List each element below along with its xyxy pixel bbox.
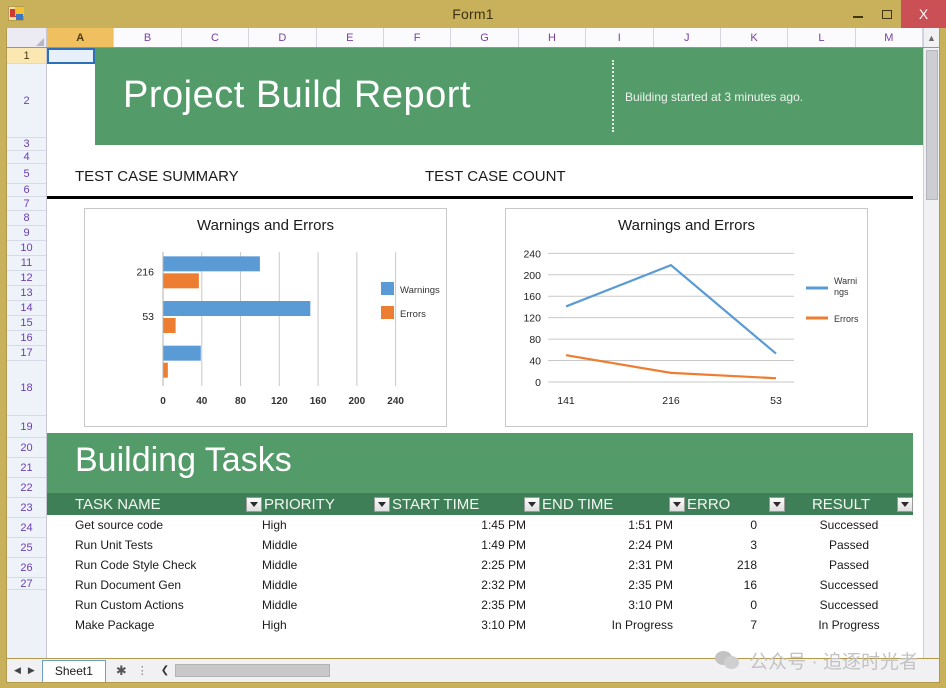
svg-text:120: 120: [523, 313, 541, 325]
row-header-20[interactable]: 20: [7, 438, 46, 458]
svg-text:Warnings: Warnings: [400, 285, 440, 296]
cell-task: Run Code Style Check: [47, 558, 262, 572]
active-cell-cursor[interactable]: [47, 48, 95, 64]
svg-text:Errors: Errors: [400, 309, 426, 320]
asterisk-icon[interactable]: ✱: [106, 663, 137, 679]
cell-errors: 0: [685, 518, 785, 532]
row-header-24[interactable]: 24: [7, 518, 46, 538]
table-header-label: PRIORITY: [262, 496, 335, 513]
chart1-title: Warnings and Errors: [85, 209, 446, 234]
report-header-banner: Project Build Report Building started at…: [95, 48, 923, 145]
column-header-j[interactable]: J: [654, 28, 721, 47]
cell-task: Run Document Gen: [47, 578, 262, 592]
cell-result: In Progress: [785, 618, 913, 632]
svg-text:120: 120: [271, 396, 288, 407]
table-header-erro[interactable]: ERRO: [685, 493, 785, 515]
application-window: Form1 X ABCDEFGHIJKLM ▲ 1234567891011121…: [0, 0, 946, 688]
cell-priority: Middle: [262, 558, 390, 572]
cell-priority: High: [262, 618, 390, 632]
row-header-7[interactable]: 7: [7, 197, 46, 211]
header-divider: [612, 60, 614, 132]
chevron-left-icon[interactable]: ❮: [155, 665, 175, 676]
svg-text:Errors: Errors: [834, 314, 859, 324]
cell-end: In Progress: [540, 618, 685, 632]
cell-task: Get source code: [47, 518, 262, 532]
vscroll-up-arrow[interactable]: ▲: [923, 28, 939, 47]
triangle-left-icon[interactable]: ◀: [14, 665, 21, 676]
cell-priority: High: [262, 518, 390, 532]
column-header-h[interactable]: H: [519, 28, 586, 47]
table-header-task-name[interactable]: TASK NAME: [47, 493, 262, 515]
cell-priority: Middle: [262, 578, 390, 592]
table-header-start-time[interactable]: START TIME: [390, 493, 540, 515]
vscroll-thumb[interactable]: [926, 50, 938, 200]
svg-text:240: 240: [387, 396, 404, 407]
title-bar: Form1 X: [0, 0, 946, 28]
row-header-10[interactable]: 10: [7, 241, 46, 256]
table-row[interactable]: Make PackageHigh3:10 PMIn Progress7In Pr…: [47, 615, 913, 635]
row-header-6[interactable]: 6: [7, 184, 46, 197]
svg-text:0: 0: [535, 377, 541, 389]
chart2-title: Warnings and Errors: [506, 209, 867, 234]
cell-task: Run Unit Tests: [47, 538, 262, 552]
chart-warnings-errors-line[interactable]: Warnings and Errors 04080120160200240141…: [505, 208, 868, 427]
column-header-k[interactable]: K: [721, 28, 788, 47]
cell-start: 1:45 PM: [390, 518, 540, 532]
table-header-result[interactable]: RESULT: [785, 493, 913, 515]
row-header-13[interactable]: 13: [7, 286, 46, 301]
cell-end: 2:31 PM: [540, 558, 685, 572]
select-all-corner[interactable]: [7, 28, 47, 47]
cell-task: Make Package: [47, 618, 262, 632]
svg-text:240: 240: [523, 248, 541, 260]
vertical-scrollbar[interactable]: [923, 48, 939, 658]
filter-dropdown-icon[interactable]: [374, 497, 390, 512]
sheet-tab-sheet1[interactable]: Sheet1: [42, 660, 106, 682]
svg-text:40: 40: [196, 396, 208, 407]
cell-priority: Middle: [262, 538, 390, 552]
cell-result: Successed: [785, 518, 913, 532]
section-underline: [47, 196, 913, 199]
row-header-27[interactable]: 27: [7, 578, 46, 590]
row-header-4[interactable]: 4: [7, 151, 46, 164]
cell-errors: 7: [685, 618, 785, 632]
cell-result: Passed: [785, 558, 913, 572]
cell-end: 1:51 PM: [540, 518, 685, 532]
cell-priority: Middle: [262, 598, 390, 612]
cell-end: 2:35 PM: [540, 578, 685, 592]
row-header-gutter: 1234567891011121314151617181920212223242…: [7, 48, 47, 658]
filter-dropdown-icon[interactable]: [246, 497, 262, 512]
more-options-icon[interactable]: ⋮: [137, 664, 155, 677]
row-header-23[interactable]: 23: [7, 498, 46, 518]
table-header-end-time[interactable]: END TIME: [540, 493, 685, 515]
cell-errors: 218: [685, 558, 785, 572]
spreadsheet-area: ABCDEFGHIJKLM ▲ 123456789101112131415161…: [6, 28, 940, 659]
filter-dropdown-icon[interactable]: [669, 497, 685, 512]
column-header-i[interactable]: I: [586, 28, 653, 47]
row-header-16[interactable]: 16: [7, 331, 46, 346]
sheet-nav-arrows[interactable]: ◀ ▶: [7, 665, 42, 676]
row-header-11[interactable]: 11: [7, 256, 46, 271]
cell-end: 2:24 PM: [540, 538, 685, 552]
table-body: Get source codeHigh1:45 PM1:51 PM0Succes…: [47, 515, 913, 635]
row-header-22[interactable]: 22: [7, 478, 46, 498]
sheet-canvas[interactable]: Project Build Report Building started at…: [47, 48, 923, 658]
window-title: Form1: [0, 6, 946, 22]
svg-text:Warni: Warni: [834, 276, 857, 286]
filter-dropdown-icon[interactable]: [897, 497, 913, 512]
section-label-test-case-summary: TEST CASE SUMMARY: [75, 168, 239, 185]
cell-start: 2:25 PM: [390, 558, 540, 572]
row-header-8[interactable]: 8: [7, 211, 46, 226]
column-header-l[interactable]: L: [788, 28, 855, 47]
cell-start: 2:35 PM: [390, 598, 540, 612]
column-header-c[interactable]: C: [182, 28, 249, 47]
svg-text:200: 200: [523, 270, 541, 282]
row-header-19[interactable]: 19: [7, 416, 46, 438]
cell-start: 2:32 PM: [390, 578, 540, 592]
column-header-e[interactable]: E: [317, 28, 384, 47]
column-header-d[interactable]: D: [249, 28, 316, 47]
svg-text:53: 53: [142, 311, 154, 323]
svg-text:53: 53: [770, 395, 782, 407]
row-header-18[interactable]: 18: [7, 361, 46, 416]
row-header-3[interactable]: 3: [7, 138, 46, 151]
table-row[interactable]: Run Custom ActionsMiddle2:35 PM3:10 PM0S…: [47, 595, 913, 615]
table-header-priority[interactable]: PRIORITY: [262, 493, 390, 515]
column-header-a[interactable]: A: [47, 28, 114, 47]
cell-end: 3:10 PM: [540, 598, 685, 612]
cell-errors: 3: [685, 538, 785, 552]
svg-text:80: 80: [235, 396, 247, 407]
column-header-g[interactable]: G: [451, 28, 518, 47]
row-header-2[interactable]: 2: [7, 64, 46, 138]
column-header-b[interactable]: B: [114, 28, 181, 47]
row-header-26[interactable]: 26: [7, 558, 46, 578]
table-row[interactable]: Run Code Style CheckMiddle2:25 PM2:31 PM…: [47, 555, 913, 575]
page-title: Project Build Report: [123, 74, 471, 117]
svg-text:160: 160: [523, 291, 541, 303]
filter-dropdown-icon[interactable]: [769, 497, 785, 512]
table-row[interactable]: Run Document GenMiddle2:32 PM2:35 PM16Su…: [47, 575, 913, 595]
tasks-title: Building Tasks: [75, 441, 292, 480]
table-row[interactable]: Run Unit TestsMiddle1:49 PM2:24 PM3Passe…: [47, 535, 913, 555]
row-header-25[interactable]: 25: [7, 538, 46, 558]
build-status-note: Building started at 3 minutes ago.: [625, 90, 803, 104]
section-label-test-case-count: TEST CASE COUNT: [425, 168, 566, 185]
svg-text:216: 216: [136, 266, 154, 278]
cell-result: Successed: [785, 578, 913, 592]
svg-text:141: 141: [557, 395, 575, 407]
triangle-right-icon[interactable]: ▶: [28, 665, 35, 676]
table-header-label: TASK NAME: [47, 496, 161, 513]
sheet-tab-bar: ◀ ▶ Sheet1 ✱ ⋮ ❮: [6, 659, 940, 683]
chart-warnings-errors-bar[interactable]: Warnings and Errors 04080120160200240216…: [84, 208, 447, 427]
tasks-banner: Building Tasks: [47, 433, 913, 493]
row-header-1[interactable]: 1: [7, 48, 46, 64]
filter-dropdown-icon[interactable]: [524, 497, 540, 512]
table-header-row: TASK NAMEPRIORITYSTART TIMEEND TIMEERROR…: [47, 493, 913, 515]
column-header-f[interactable]: F: [384, 28, 451, 47]
column-header-m[interactable]: M: [856, 28, 923, 47]
svg-text:200: 200: [349, 396, 366, 407]
cell-start: 3:10 PM: [390, 618, 540, 632]
row-header-21[interactable]: 21: [7, 458, 46, 478]
chart1-canvas: 0408012016020024021653WarningsErrors: [85, 234, 446, 424]
cell-result: Passed: [785, 538, 913, 552]
svg-text:80: 80: [529, 334, 541, 346]
chart2-canvas: 0408012016020024014121653WarningsErrors: [506, 234, 867, 424]
svg-text:216: 216: [662, 395, 680, 407]
row-header-14[interactable]: 14: [7, 301, 46, 316]
cell-task: Run Custom Actions: [47, 598, 262, 612]
table-header-label: ERRO: [685, 496, 730, 513]
row-header-15[interactable]: 15: [7, 316, 46, 331]
row-header-5[interactable]: 5: [7, 164, 46, 184]
cell-start: 1:49 PM: [390, 538, 540, 552]
grid-area: 1234567891011121314151617181920212223242…: [7, 48, 939, 658]
row-header-12[interactable]: 12: [7, 271, 46, 286]
column-header-row: ABCDEFGHIJKLM ▲: [7, 28, 939, 48]
table-header-label: END TIME: [540, 496, 613, 513]
cell-errors: 16: [685, 578, 785, 592]
hscroll-thumb[interactable]: [175, 664, 330, 677]
table-row[interactable]: Get source codeHigh1:45 PM1:51 PM0Succes…: [47, 515, 913, 535]
svg-text:0: 0: [160, 396, 166, 407]
cell-result: Successed: [785, 598, 913, 612]
table-header-label: RESULT: [785, 496, 897, 513]
svg-text:40: 40: [529, 356, 541, 368]
cell-errors: 0: [685, 598, 785, 612]
svg-text:160: 160: [310, 396, 327, 407]
row-header-9[interactable]: 9: [7, 226, 46, 241]
row-header-17[interactable]: 17: [7, 346, 46, 361]
table-header-label: START TIME: [390, 496, 479, 513]
svg-text:ngs: ngs: [834, 287, 849, 297]
